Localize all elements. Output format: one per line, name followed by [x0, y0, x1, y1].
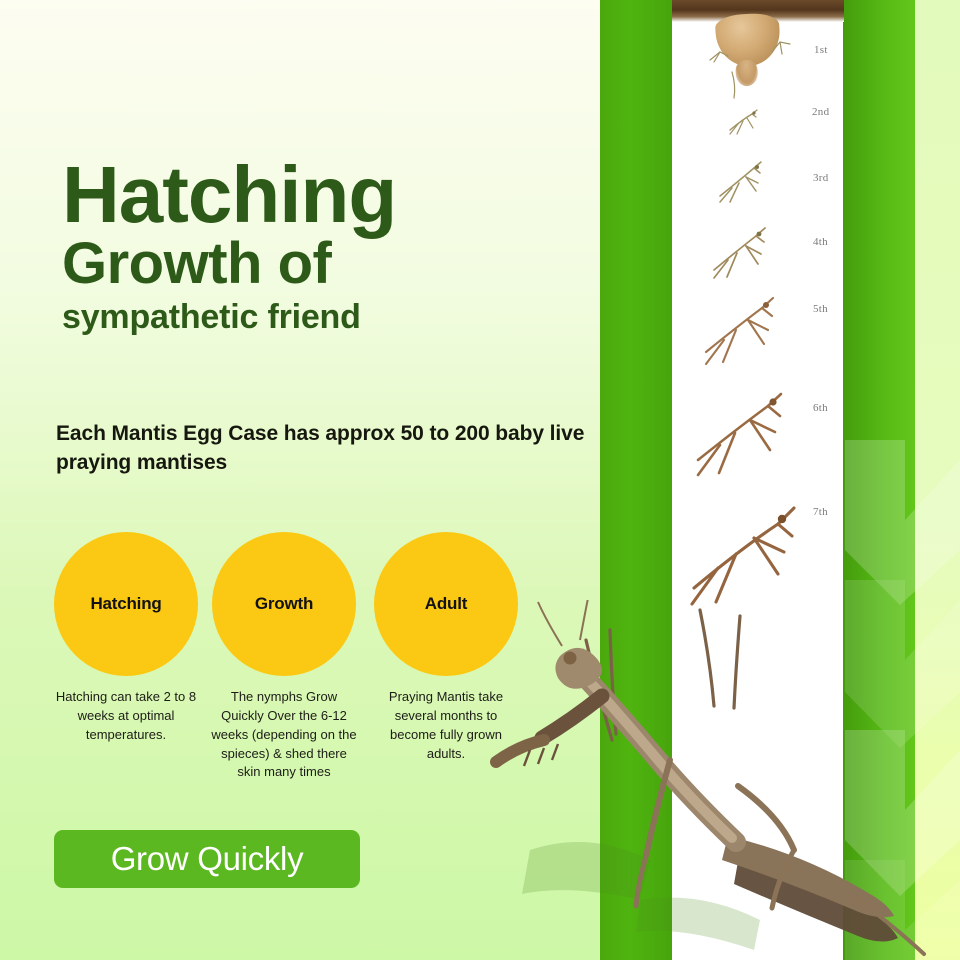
stage-item-adult[interactable]: Adult Praying Mantis take several months… — [374, 532, 518, 676]
instar-label-6th: 6th — [813, 402, 828, 414]
instar-label-5th: 5th — [813, 303, 828, 315]
stage-circle-label-growth: Growth — [255, 594, 313, 614]
stage-description-growth: The nymphs Grow Quickly Over the 6-12 we… — [209, 688, 359, 782]
stage-circle-label-hatching: Hatching — [90, 594, 161, 614]
stage-description-hatching: Hatching can take 2 to 8 weeks at optima… — [46, 688, 206, 745]
stage-circle-label-adult: Adult — [425, 594, 467, 614]
stage-circle-growth[interactable]: Growth — [212, 532, 356, 676]
instar-label-4th: 4th — [813, 236, 828, 248]
title-line-2: Growth of — [62, 234, 582, 293]
green-band-left — [600, 0, 674, 960]
green-band-right — [843, 0, 915, 960]
instar-label-3rd: 3rd — [813, 172, 829, 184]
stage-description-adult: Praying Mantis take several months to be… — [370, 688, 522, 763]
stage-circle-adult[interactable]: Adult — [374, 532, 518, 676]
stage-circle-row: Hatching Hatching can take 2 to 8 weeks … — [54, 532, 574, 682]
mantis-nymph-series — [672, 0, 844, 960]
left-content-column: Hatching Growth of sympathetic friend Ea… — [0, 0, 610, 960]
stage-item-growth[interactable]: Growth The nymphs Grow Quickly Over the … — [212, 532, 356, 676]
grow-quickly-button-label: Grow Quickly — [111, 840, 304, 878]
infographic-poster: 1st 2nd 3rd 4th 5th 6th 7th Hatching Gro… — [0, 0, 960, 960]
stage-circle-hatching[interactable]: Hatching — [54, 532, 198, 676]
lede-paragraph: Each Mantis Egg Case has approx 50 to 20… — [56, 420, 596, 477]
grow-quickly-button[interactable]: Grow Quickly — [54, 830, 360, 888]
page-title: Hatching Growth of sympathetic friend — [62, 158, 582, 336]
instar-label-7th: 7th — [813, 506, 828, 518]
title-line-3: sympathetic friend — [62, 299, 582, 336]
instar-label-1st: 1st — [814, 44, 828, 56]
stage-item-hatching[interactable]: Hatching Hatching can take 2 to 8 weeks … — [54, 532, 198, 676]
instar-label-2nd: 2nd — [812, 106, 829, 118]
title-line-1: Hatching — [62, 158, 582, 232]
